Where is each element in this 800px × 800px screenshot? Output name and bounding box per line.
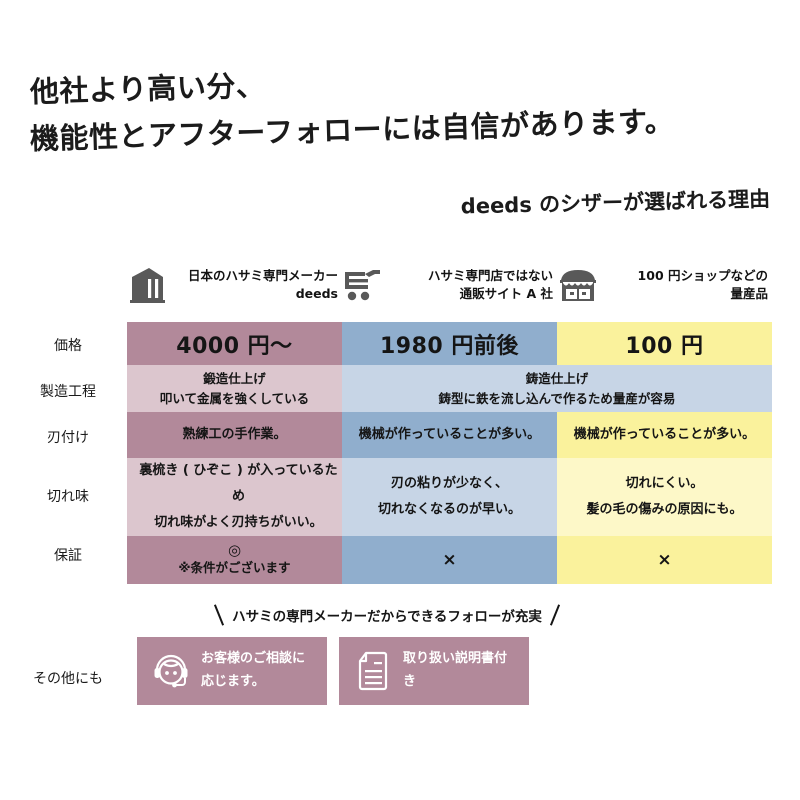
follow-up-ribbon: ハサミの専門メーカーだからできるフォローが充実 (127, 604, 647, 626)
table-row: 4000 円〜 1980 円前後 100 円 (127, 322, 772, 365)
comparison-table: 4000 円〜 1980 円前後 100 円 鍛造仕上げ 叩いて金属を強くしてい… (127, 322, 772, 584)
column-header-online-shop: ハサミ専門店ではない 通販サイト A 社 (342, 252, 557, 318)
table-row: 熟練工の手作業。 機械が作っていることが多い。 機械が作っていることが多い。 (127, 412, 772, 458)
column-header-label: 100 円ショップなどの 量産品 (605, 267, 768, 303)
circle-mark-icon: ◎ (127, 542, 342, 559)
benefit-box-label: 取り扱い説明書付き (403, 648, 515, 694)
table-row: ◎ ※条件がございます × × (127, 536, 772, 584)
column-headers: 日本のハサミ専門メーカー deeds ハサミ専門店ではない 通販サイト A 社 (127, 252, 772, 318)
cell-edge-online: 機械が作っていることが多い。 (342, 412, 557, 458)
shopping-cart-icon (342, 262, 384, 308)
subheadline: deeds のシザーが選ばれる理由 (0, 183, 770, 232)
cell-sharp-100yen: 切れにくい。 髪の毛の傷みの原因にも。 (557, 458, 772, 536)
row-label-warranty: 保証 (18, 545, 118, 565)
cell-sharp-deeds: 裏梳き ( ひぞこ ) が入っているため 切れ味がよく刃持ちがいい。 (127, 458, 342, 536)
row-label-manufacturing: 製造工程 (18, 381, 118, 401)
storefront-shop-icon (557, 262, 599, 308)
cell-sharp-online: 刃の粘りが少なく、 切れなくなるのが早い。 (342, 458, 557, 536)
row-label-others: その他にも (18, 668, 118, 688)
cell-warranty-online: × (342, 536, 557, 584)
benefit-box-support: お客様のご相談に 応じます。 (137, 637, 327, 705)
column-header-100yen-shop: 100 円ショップなどの 量産品 (557, 252, 772, 318)
benefit-boxes: お客様のご相談に 応じます。 取り扱い説明書付き (137, 637, 529, 705)
slash-right-icon (550, 604, 560, 625)
cell-price-deeds: 4000 円〜 (127, 322, 342, 365)
cell-price-100yen: 100 円 (557, 322, 772, 365)
column-header-deeds: 日本のハサミ専門メーカー deeds (127, 252, 342, 318)
ribbon-text: ハサミの専門メーカーだからできるフォローが充実 (232, 605, 542, 625)
benefit-box-label: お客様のご相談に 応じます。 (201, 648, 305, 694)
slash-left-icon (214, 604, 224, 625)
headline-line-1: 他社より高い分、 (30, 57, 771, 107)
table-row: 裏梳き ( ひぞこ ) が入っているため 切れ味がよく刃持ちがいい。 刃の粘りが… (127, 458, 772, 536)
row-label-sharpness: 切れ味 (18, 486, 118, 506)
table-row: 鍛造仕上げ 叩いて金属を強くしている 鋳造仕上げ 鋳型に鉄を流し込んで作るため量… (127, 365, 772, 412)
cell-price-online: 1980 円前後 (342, 322, 557, 365)
warranty-note: ※条件がございます (178, 560, 290, 575)
headline-block: 他社より高い分、 機能性とアフターフォローには自信があります。 (30, 78, 770, 154)
column-header-label: 日本のハサミ専門メーカー deeds (175, 267, 338, 303)
headset-support-icon (151, 650, 191, 692)
factory-building-icon (127, 262, 169, 308)
column-header-label: ハサミ専門店ではない 通販サイト A 社 (390, 267, 553, 303)
cell-mfg-deeds: 鍛造仕上げ 叩いて金属を強くしている (127, 365, 342, 412)
infographic-canvas: 他社より高い分、 機能性とアフターフォローには自信があります。 deeds のシ… (0, 0, 800, 800)
headline-line-2: 機能性とアフターフォローには自信があります。 (30, 104, 771, 154)
row-label-blade-edge: 刃付け (18, 427, 118, 447)
cell-edge-100yen: 機械が作っていることが多い。 (557, 412, 772, 458)
cell-warranty-deeds: ◎ ※条件がございます (127, 536, 342, 584)
cell-mfg-others: 鋳造仕上げ 鋳型に鉄を流し込んで作るため量産が容易 (342, 365, 772, 412)
cell-warranty-100yen: × (557, 536, 772, 584)
row-label-price: 価格 (18, 335, 118, 355)
document-manual-icon (353, 650, 393, 692)
cell-edge-deeds: 熟練工の手作業。 (127, 412, 342, 458)
benefit-box-manual: 取り扱い説明書付き (339, 637, 529, 705)
